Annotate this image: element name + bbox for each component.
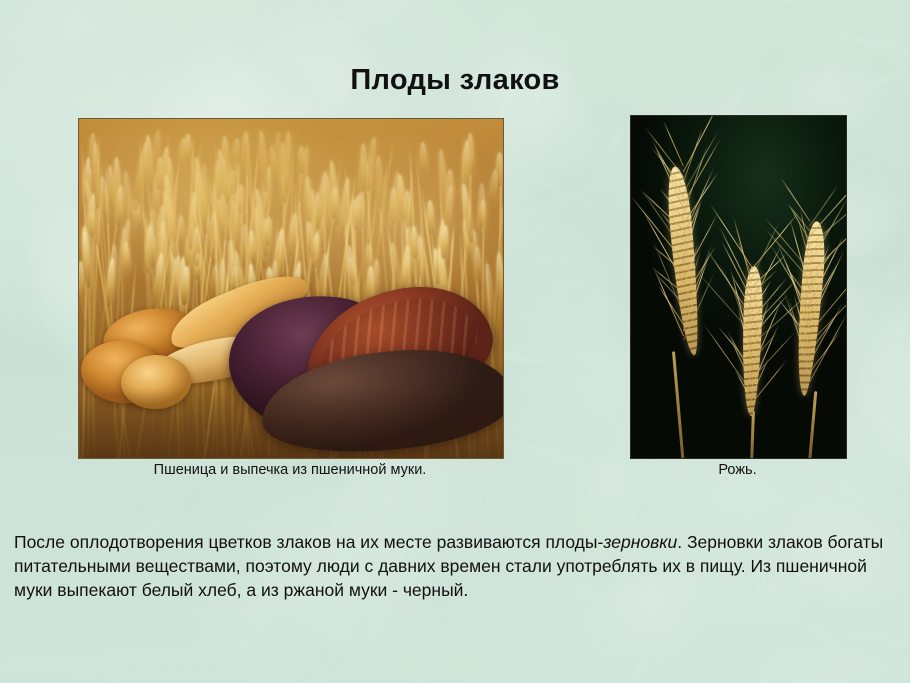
slide-body-text: После оплодотворения цветков злаков на и… [14, 530, 904, 602]
rye-photo [631, 116, 846, 458]
figure-caption-rye: Рожь. [630, 462, 845, 478]
bread-shadow [79, 388, 503, 458]
wheat-field-photo [79, 119, 503, 458]
bread-pile [79, 119, 503, 458]
figure-caption-wheat: Пшеница и выпечка из пшеничной муки. [78, 462, 502, 478]
figure-wheat-and-bakery [78, 118, 504, 459]
presentation-slide: Плоды злаков [0, 0, 910, 683]
body-text-emphasis: зерновки [603, 532, 677, 552]
rye-ears [631, 116, 846, 458]
body-text-part1: После оплодотворения цветков злаков на и… [14, 532, 603, 552]
figure-rye [630, 115, 847, 459]
slide-title: Плоды злаков [0, 64, 910, 97]
